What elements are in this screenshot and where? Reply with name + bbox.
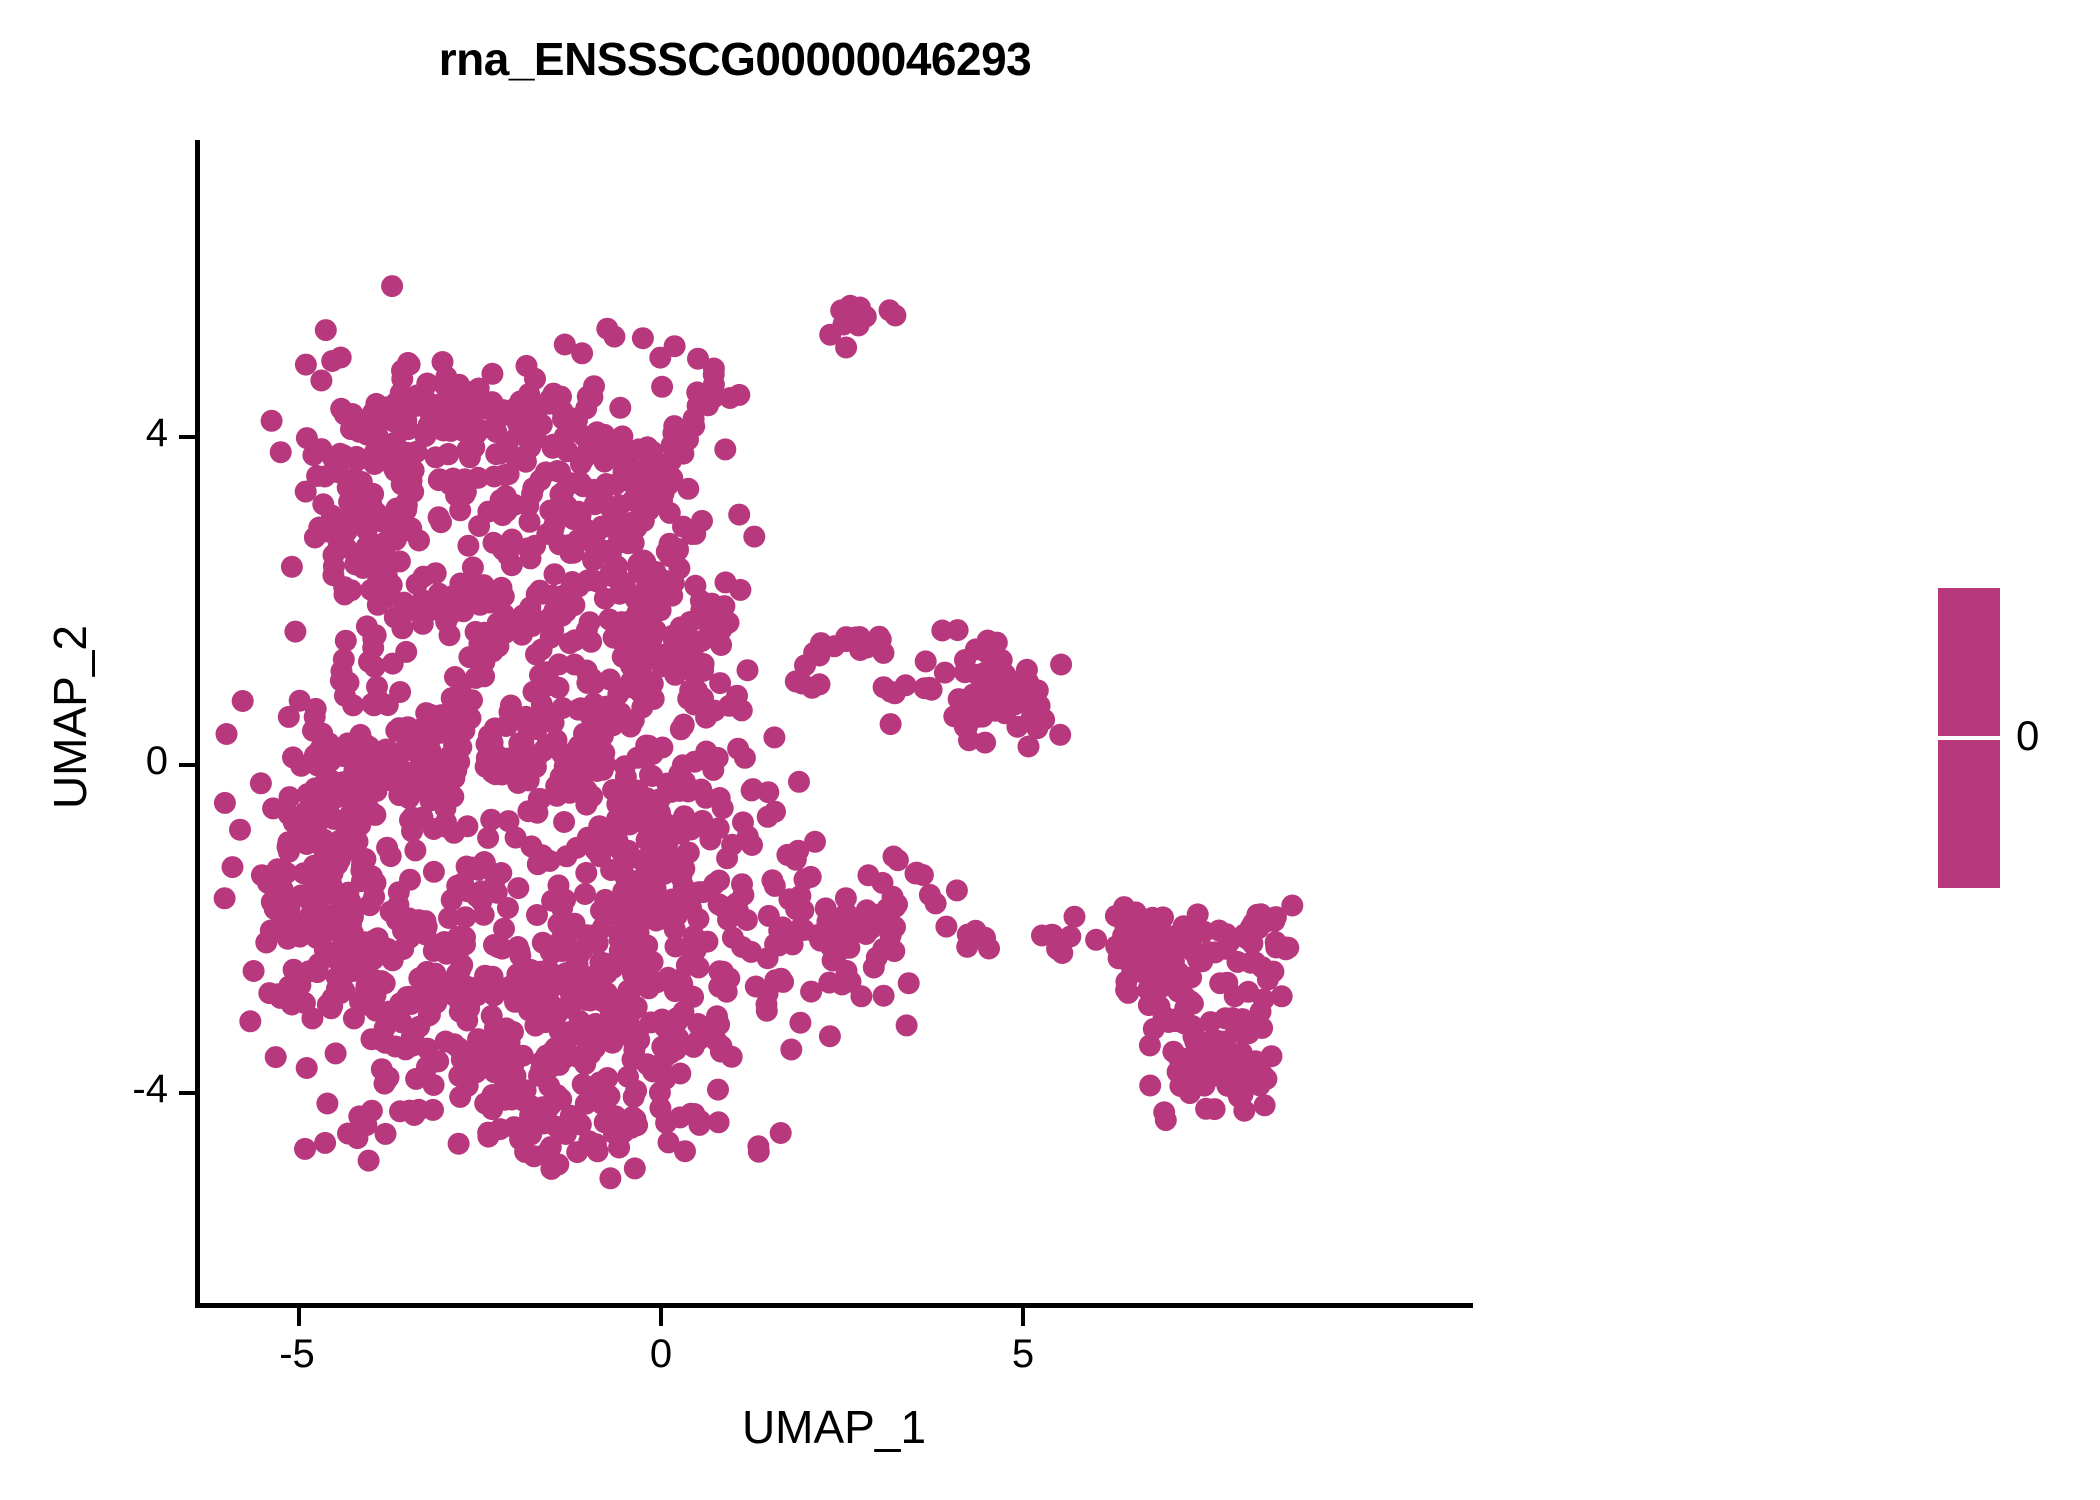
colorbar-tick-label-0: 0 <box>2016 712 2039 760</box>
scatter-plot-figure: rna_ENSSSCG00000046293 4 0 -4 -5 0 5 UMA… <box>0 0 2100 1500</box>
scatter-points-layer <box>0 0 2100 1500</box>
colorbar-tick-gap <box>1962 736 1976 740</box>
